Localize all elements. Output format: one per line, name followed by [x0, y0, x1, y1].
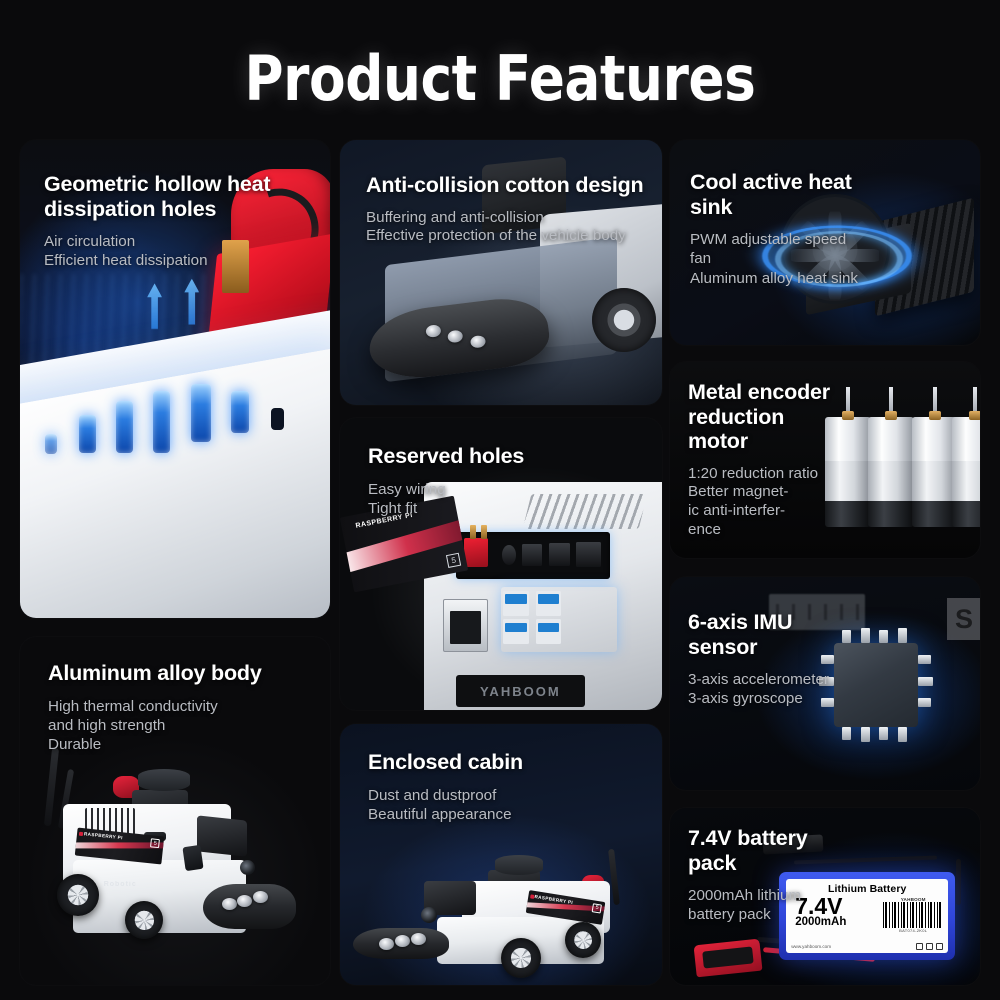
- card-subtext-line: and high strength: [48, 716, 312, 735]
- raspberry-pi-sticker-badge: 5: [150, 838, 160, 848]
- page-title: Product Features: [70, 42, 930, 115]
- card-subtext: High thermal conductivity and high stren…: [48, 697, 312, 755]
- card-subtext-line: Better magnet-: [688, 483, 835, 502]
- card-subtext-line: ic anti-interfer-: [688, 502, 835, 521]
- card-subtext: 1:20 reduction ratio Better magnet- ic a…: [688, 465, 835, 540]
- feature-card-anti-collision-cotton[interactable]: Anti-collision cotton design Buffering a…: [340, 140, 662, 405]
- feature-card-heat-dissipation-holes[interactable]: Geometric hollow heat dissipation holes …: [20, 140, 330, 618]
- battery-label-url: www.yahboom.com: [791, 944, 831, 949]
- card-subtext-line: Durable: [48, 735, 312, 754]
- card-subtext-line: 3-axis gyroscope: [688, 689, 860, 708]
- card-heading: Reserved holes: [368, 444, 644, 469]
- card-subtext-line: High thermal conductivity: [48, 697, 312, 716]
- card-heading: 6-axis IMU sensor: [688, 610, 860, 659]
- card-heading: Enclosed cabin: [368, 750, 644, 775]
- feature-card-enclosed-cabin[interactable]: RASPBERRY PI 5 Enclosed cabin Dust and d…: [340, 724, 662, 985]
- card-subtext-line: 1:20 reduction ratio: [688, 465, 835, 484]
- feature-card-heat-sink[interactable]: Cool active heat sink PWM adjustable spe…: [670, 140, 980, 345]
- raspberry-pi-sticker-badge: 5: [446, 552, 461, 567]
- feature-card-battery-pack[interactable]: Lithium Battery 7.4V 2000mAh YAHBOOM BAT…: [670, 808, 980, 985]
- card-subtext-line: Aluminum alloy heat sink: [690, 269, 860, 288]
- card-subtext-line: 3-axis accelerometer: [688, 670, 860, 689]
- card-subtext-line: Air circulation: [44, 232, 310, 251]
- card-heading: Geometric hollow heat dissipation holes: [44, 172, 310, 221]
- yahboom-brand-label: YAHBOOM: [456, 675, 585, 707]
- card-subtext-line: Buffering and anti-collision: [366, 209, 644, 228]
- card-subtext: Dust and dustproof Beautiful appearance: [368, 786, 644, 825]
- card-subtext: Air circulation Efficient heat dissipati…: [44, 232, 310, 271]
- card-subtext-line: ence: [688, 521, 835, 540]
- card-heading: Anti-collision cotton design: [366, 173, 644, 198]
- card-subtext: PWM adjustable speed fan Aluminum alloy …: [690, 230, 860, 288]
- barcode: YAHBOOM BAT074-2K0L: [883, 897, 943, 933]
- compliance-icons: [916, 943, 943, 950]
- card-subtext-line: Effective protection of the vehicle body: [366, 227, 644, 246]
- card-subtext-line: Beautiful appearance: [368, 805, 644, 824]
- card-subtext-line: battery pack: [688, 905, 830, 924]
- card-heading: 7.4V battery pack: [688, 826, 830, 875]
- card-subtext-line: 2000mAh lithium: [688, 886, 830, 905]
- feature-card-imu-sensor[interactable]: S 6-axis IMU sensor 3-axis accelerometer…: [670, 577, 980, 790]
- barcode-number: BAT074-2K0L: [883, 928, 943, 933]
- card-subtext-line: Tight fit: [368, 499, 644, 518]
- card-subtext-line: Dust and dustproof: [368, 786, 644, 805]
- card-subtext: Easy wiring Tight fit: [368, 480, 644, 519]
- card-heading: Metal encoder reduction motor: [688, 380, 835, 454]
- card-subtext: Buffering and anti-collision Effective p…: [366, 209, 644, 247]
- card-subtext-line: Efficient heat dissipation: [44, 251, 310, 270]
- card-subtext: 2000mAh lithium battery pack: [688, 886, 830, 925]
- card-heading: Aluminum alloy body: [48, 661, 312, 686]
- card-subtext-line: PWM adjustable speed fan: [690, 230, 860, 269]
- feature-card-reserved-holes[interactable]: RASPBERRY PI 5 YAHBOOM Reserved holes Ea…: [340, 418, 662, 710]
- imu-corner-letter: S: [947, 598, 980, 640]
- feature-card-aluminum-alloy-body[interactable]: RASPBERRY PI 5 Robotic Aluminum alloy bo…: [20, 637, 330, 985]
- raspberry-pi-sticker-text: RASPBERRY PI: [84, 831, 123, 840]
- card-subtext-line: Easy wiring: [368, 480, 644, 499]
- raspberry-pi-sticker-badge: 5: [592, 903, 602, 913]
- feature-card-encoder-motor[interactable]: Metal encoder reduction motor 1:20 reduc…: [670, 362, 980, 558]
- card-subtext: 3-axis accelerometer 3-axis gyroscope: [688, 670, 860, 709]
- robot-brand-logo: Robotic: [104, 881, 137, 888]
- card-heading: Cool active heat sink: [690, 170, 860, 219]
